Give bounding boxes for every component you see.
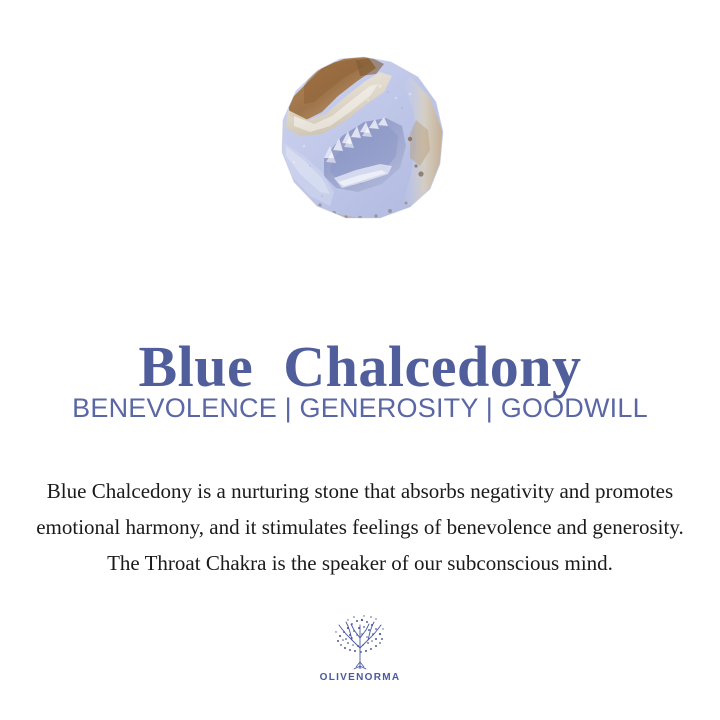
- page-title: Blue Chalcedony: [0, 337, 720, 398]
- hero-image-container: [0, 44, 720, 234]
- description-text: Blue Chalcedony is a nurturing stone tha…: [18, 473, 702, 581]
- brand-wordmark: OLIVENORMA: [320, 672, 401, 683]
- product-info-card: Blue Chalcedony BENEVOLENCE | GENEROSITY…: [0, 0, 720, 720]
- tree-of-life-icon: [328, 612, 392, 670]
- brand-logo: OLIVENORMA: [0, 612, 720, 683]
- blue-chalcedony-geode-image: [260, 46, 460, 232]
- keyword-line: BENEVOLENCE | GENEROSITY | GOODWILL: [0, 393, 720, 423]
